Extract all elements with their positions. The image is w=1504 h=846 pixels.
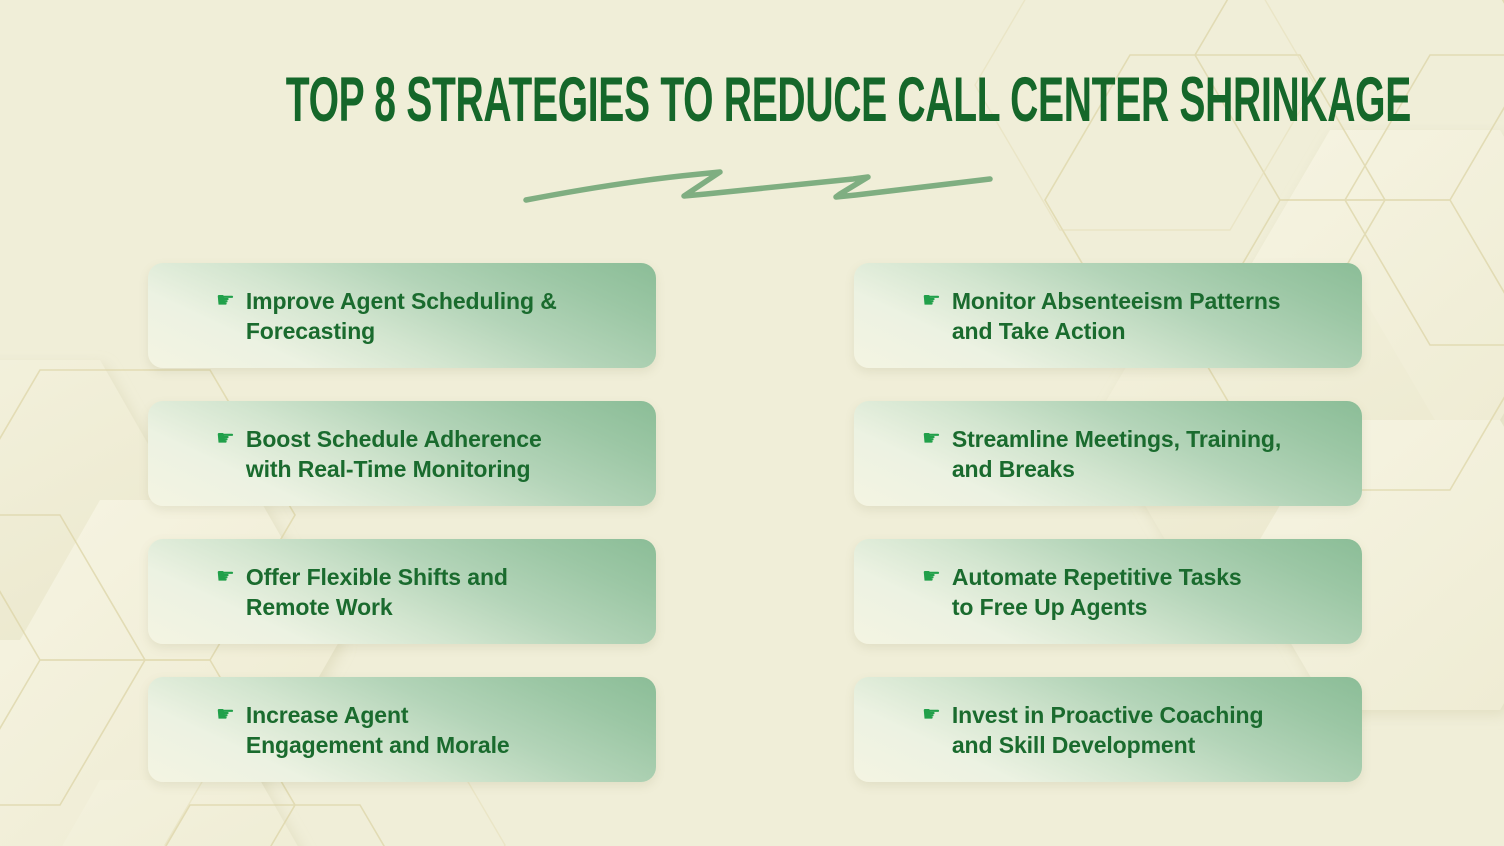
strategy-card-2[interactable]: ☛ Boost Schedule Adherence with Real-Tim…	[148, 401, 656, 506]
strategy-card-label: Automate Repetitive Tasks to Free Up Age…	[952, 562, 1344, 622]
title-block: TOP 8 STRATEGIES TO REDUCE CALL CENTER S…	[0, 68, 1504, 132]
pointing-hand-icon: ☛	[922, 286, 941, 316]
pointing-hand-icon: ☛	[216, 562, 235, 592]
strategy-card-label: Streamline Meetings, Training, and Break…	[952, 424, 1344, 484]
strategy-cards-grid: ☛ Improve Agent Scheduling & Forecasting…	[0, 263, 1504, 783]
strategy-card-7[interactable]: ☛ Automate Repetitive Tasks to Free Up A…	[854, 539, 1362, 644]
pointing-hand-icon: ☛	[216, 700, 235, 730]
pointing-hand-icon: ☛	[216, 286, 235, 316]
strategy-card-1[interactable]: ☛ Improve Agent Scheduling & Forecasting	[148, 263, 656, 368]
pointing-hand-icon: ☛	[216, 424, 235, 454]
squiggle-underline-icon	[508, 152, 1008, 214]
strategy-card-4[interactable]: ☛ Increase Agent Engagement and Morale	[148, 677, 656, 782]
strategy-column-left: ☛ Improve Agent Scheduling & Forecasting…	[148, 263, 656, 815]
page-title: TOP 8 STRATEGIES TO REDUCE CALL CENTER S…	[286, 68, 1218, 132]
pointing-hand-icon: ☛	[922, 424, 941, 454]
strategy-card-8[interactable]: ☛ Invest in Proactive Coaching and Skill…	[854, 677, 1362, 782]
pointing-hand-icon: ☛	[922, 700, 941, 730]
strategy-card-label: Increase Agent Engagement and Morale	[246, 700, 638, 760]
strategy-card-6[interactable]: ☛ Streamline Meetings, Training, and Bre…	[854, 401, 1362, 506]
infographic-poster: TOP 8 STRATEGIES TO REDUCE CALL CENTER S…	[0, 0, 1504, 846]
strategy-card-label: Monitor Absenteeism Patterns and Take Ac…	[952, 286, 1344, 346]
pointing-hand-icon: ☛	[922, 562, 941, 592]
strategy-card-label: Invest in Proactive Coaching and Skill D…	[952, 700, 1344, 760]
strategy-card-3[interactable]: ☛ Offer Flexible Shifts and Remote Work	[148, 539, 656, 644]
strategy-card-label: Improve Agent Scheduling & Forecasting	[246, 286, 638, 346]
strategy-card-label: Boost Schedule Adherence with Real-Time …	[246, 424, 638, 484]
strategy-card-label: Offer Flexible Shifts and Remote Work	[246, 562, 638, 622]
strategy-card-5[interactable]: ☛ Monitor Absenteeism Patterns and Take …	[854, 263, 1362, 368]
strategy-column-right: ☛ Monitor Absenteeism Patterns and Take …	[854, 263, 1362, 815]
